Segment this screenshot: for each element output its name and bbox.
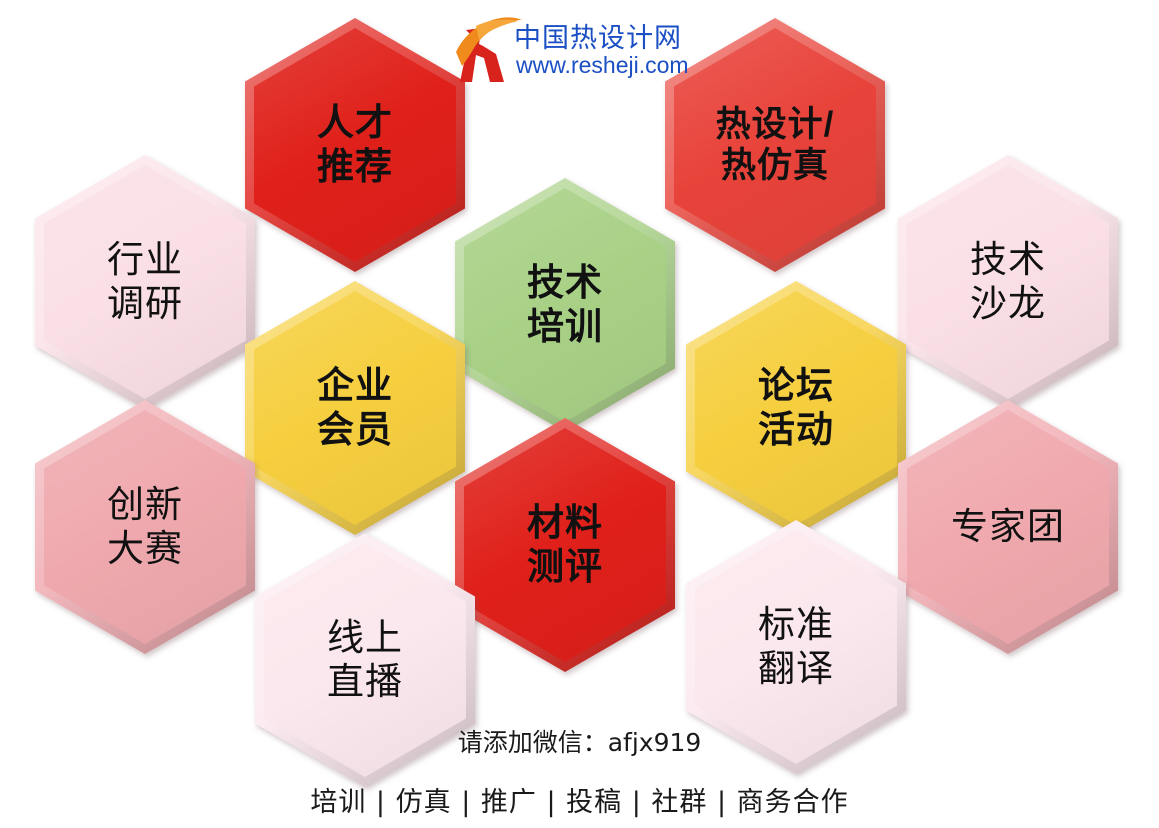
hex-label: 材料 测评 — [527, 501, 603, 588]
hex-label: 专家团 — [951, 505, 1065, 549]
hex-label: 人才 推荐 — [317, 101, 393, 188]
hex-label: 标准 翻译 — [758, 603, 834, 690]
hex-label: 技术 培训 — [527, 261, 603, 348]
site-logo[interactable]: 中国热设计网 www.resheji.com — [452, 12, 682, 92]
hex-cell-innovation-contest[interactable]: 创新 大赛 — [35, 400, 255, 654]
service-tags-text: 培训 | 仿真 | 推广 | 投稿 | 社群 | 商务合作 — [0, 780, 1159, 819]
hex-label: 论坛 活动 — [758, 364, 834, 451]
hex-label: 创新 大赛 — [107, 483, 183, 570]
logo-site-name: 中国热设计网 — [514, 16, 682, 55]
hex-cell-industry-research[interactable]: 行业 调研 — [35, 155, 255, 409]
hex-label: 热设计/ 热仿真 — [716, 104, 835, 187]
hex-cell-thermal-design-sim[interactable]: 热设计/ 热仿真 — [665, 18, 885, 272]
hex-cell-tech-training[interactable]: 技术 培训 — [455, 178, 675, 432]
hex-cell-expert-team[interactable]: 专家团 — [898, 400, 1118, 654]
logo-url: www.resheji.com — [516, 52, 689, 79]
hex-cell-enterprise-member[interactable]: 企业 会员 — [245, 281, 465, 535]
hex-label: 线上 直播 — [327, 616, 403, 703]
hex-cell-material-evaluation[interactable]: 材料 测评 — [455, 418, 675, 672]
hex-label: 企业 会员 — [317, 364, 393, 451]
hex-label: 行业 调研 — [107, 238, 183, 325]
hex-cell-talent-recommendation[interactable]: 人才 推荐 — [245, 18, 465, 272]
hex-cell-forum-activity[interactable]: 论坛 活动 — [686, 281, 906, 535]
infographic-canvas: 人才 推荐热设计/ 热仿真行业 调研技术 培训技术 沙龙企业 会员论坛 活动创新… — [0, 0, 1159, 828]
wechat-contact-text: 请添加微信：afjx919 — [0, 723, 1159, 759]
hex-cell-tech-salon[interactable]: 技术 沙龙 — [898, 155, 1118, 409]
hex-label: 技术 沙龙 — [970, 238, 1046, 325]
